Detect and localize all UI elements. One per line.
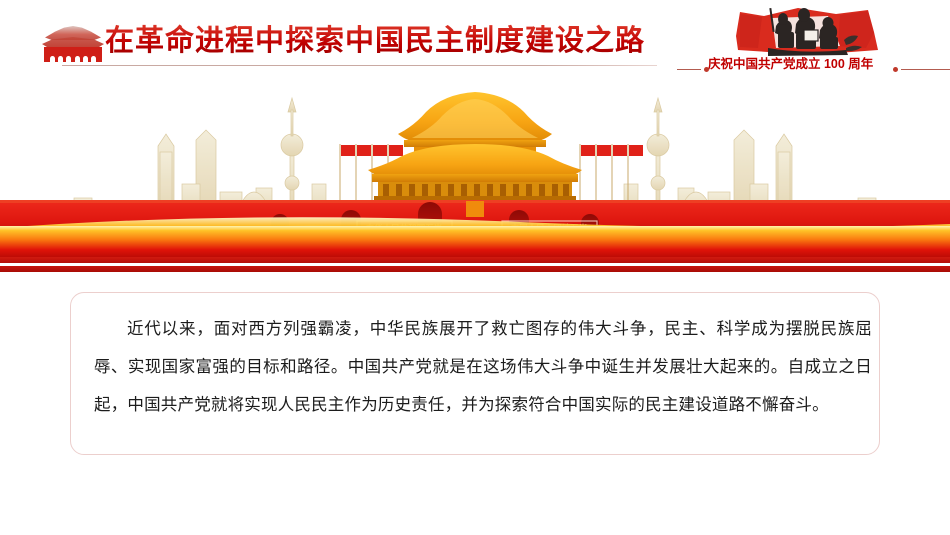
divider-bar-secondary [0, 266, 950, 272]
tiananmen-gate-icon [42, 26, 104, 62]
gate-arches-shape [50, 56, 96, 62]
emblem-caption: 庆祝中国共产党成立 100 周年 [708, 56, 890, 72]
emblem-decoration-right [893, 67, 950, 72]
slide-header: 在革命进程中探索中国民主制度建设之路 [0, 0, 950, 90]
divider-bar-primary [0, 257, 950, 263]
banner-glow-strip [0, 226, 950, 258]
cpc-100th-anniversary-emblem [728, 6, 886, 58]
body-paragraph: 近代以来，面对西方列强霸凌，中华民族展开了救亡图存的伟大斗争，民主、科学成为摆脱… [94, 310, 872, 424]
title-underline [62, 65, 657, 66]
page-title: 在革命进程中探索中国民主制度建设之路 [105, 22, 645, 60]
tiananmen-skyline-illustration: 中华人民共和国万岁 中国人民大团结万岁 [0, 88, 950, 238]
emblem-decoration-left [677, 67, 709, 72]
slide-canvas: 在革命进程中探索中国民主制度建设之路 [0, 0, 950, 535]
